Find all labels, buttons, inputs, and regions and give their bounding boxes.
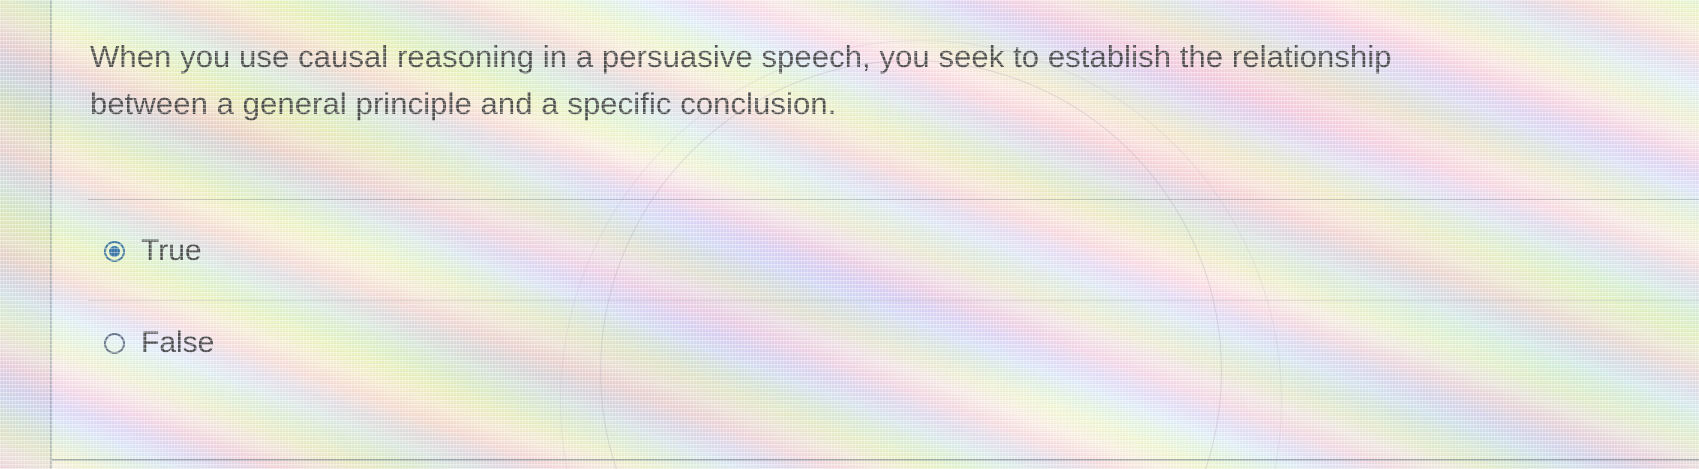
answer-choice-false-label: False xyxy=(141,326,214,360)
question-line-1: When you use causal reasoning in a persu… xyxy=(90,33,1690,80)
question-line-2: between a general principle and a specif… xyxy=(90,80,1690,127)
separator-above-choices xyxy=(88,199,1699,200)
answer-choice-list: True False xyxy=(104,225,604,369)
quiz-document-surface: When you use causal reasoning in a persu… xyxy=(0,0,1699,469)
answer-choice-true-label: True xyxy=(141,234,202,268)
screen-photograph: When you use causal reasoning in a persu… xyxy=(0,0,1699,469)
radio-empty-icon[interactable] xyxy=(104,333,125,354)
answer-choice-true[interactable]: True xyxy=(104,225,604,277)
left-margin-gutter xyxy=(0,0,50,469)
answer-choice-false[interactable]: False xyxy=(104,317,604,369)
radio-filled-icon[interactable] xyxy=(104,241,125,262)
separator-below-choices xyxy=(52,459,1699,461)
left-vertical-divider xyxy=(50,0,52,469)
question-prompt: When you use causal reasoning in a persu… xyxy=(90,33,1690,127)
